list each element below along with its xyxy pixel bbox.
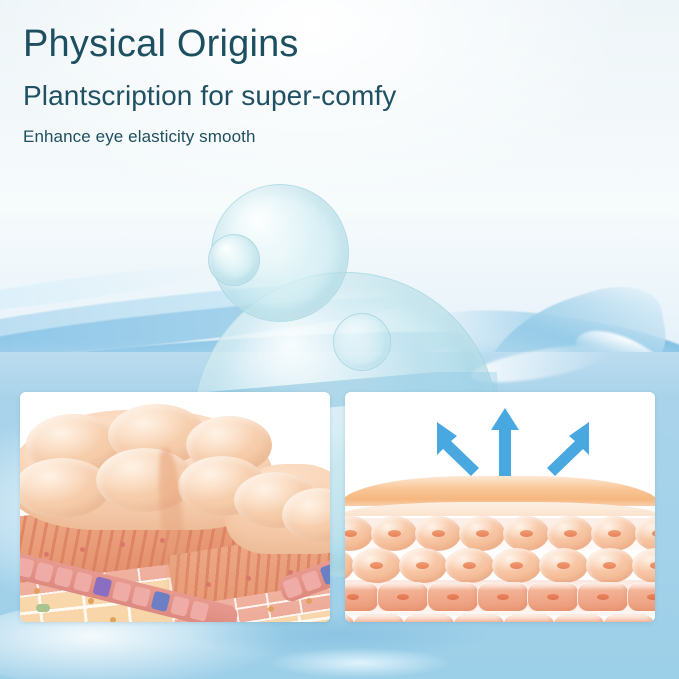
- pill-cell: [427, 582, 479, 612]
- page-title: Physical Origins: [23, 22, 623, 67]
- oval-cell: [591, 516, 637, 551]
- arrow-up-left-icon: [427, 414, 489, 480]
- pill-cell-row-2: [345, 614, 655, 622]
- oval-cell: [586, 548, 635, 583]
- pill-cell: [353, 614, 405, 622]
- layer-dot: [206, 582, 211, 587]
- basal-cell: [151, 591, 171, 612]
- arrow-up-right-icon: [537, 414, 599, 480]
- pill-cell: [477, 582, 529, 612]
- oval-cell: [445, 548, 494, 583]
- oval-cell: [547, 516, 593, 551]
- pill-cell: [603, 614, 655, 622]
- basal-cell: [189, 600, 209, 621]
- oval-cell-row-2: [345, 548, 655, 583]
- layer-dot: [160, 538, 165, 543]
- product-banner: Physical Origins Plantscription for supe…: [0, 0, 679, 679]
- layer-dot: [268, 606, 274, 612]
- illustration-cards: [20, 392, 660, 622]
- pill-cell-row-1: [345, 582, 655, 612]
- basal-cell: [320, 563, 330, 585]
- arrow-up-icon: [487, 406, 523, 480]
- basal-cell: [282, 577, 303, 599]
- basal-cell: [73, 571, 93, 592]
- pill-cell: [377, 582, 429, 612]
- pill-cell: [453, 614, 505, 622]
- inner-bubble-icon: [333, 313, 391, 371]
- oval-cell: [352, 548, 401, 583]
- tiny-bubble-icon: [208, 234, 260, 286]
- pill-cell: [577, 582, 629, 612]
- skin-surface-pale-band: [345, 502, 655, 516]
- page-subtitle: Plantscription for super-comfy: [23, 79, 623, 113]
- pill-cell: [627, 582, 655, 612]
- capillary-marker: [36, 604, 50, 612]
- oval-cell: [459, 516, 505, 551]
- oval-cell: [371, 516, 417, 551]
- oval-cell: [632, 548, 655, 583]
- header-text-block: Physical Origins Plantscription for supe…: [23, 22, 623, 147]
- oval-cell: [345, 516, 373, 551]
- pill-cell: [553, 614, 605, 622]
- layer-dot: [246, 576, 251, 581]
- layer-dot: [110, 617, 116, 622]
- page-tagline: Enhance eye elasticity smooth: [23, 127, 623, 147]
- oval-cell: [399, 548, 448, 583]
- oval-cell: [503, 516, 549, 551]
- basal-cell: [92, 576, 112, 597]
- oval-cell-row-1: [345, 516, 655, 551]
- oval-cell: [539, 548, 588, 583]
- pill-cell: [403, 614, 455, 622]
- basal-cell: [20, 557, 35, 578]
- basal-cell: [170, 596, 190, 617]
- basal-cell: [34, 562, 54, 583]
- oval-cell: [492, 548, 541, 583]
- card-wrinkled-skin: [20, 392, 330, 622]
- basal-cell: [301, 570, 322, 592]
- smooth-skin-diagram: [345, 392, 655, 622]
- wrinkled-skin-diagram: [20, 392, 330, 622]
- pill-cell: [345, 582, 379, 612]
- card-smooth-skin: [345, 392, 655, 622]
- bubble-reflection-highlight: [270, 648, 450, 678]
- pill-cell: [503, 614, 555, 622]
- layer-dot: [120, 542, 125, 547]
- basal-cell: [131, 586, 151, 607]
- layer-dot: [88, 598, 94, 604]
- oval-cell: [415, 516, 461, 551]
- layer-dot: [34, 588, 40, 594]
- pill-cell: [527, 582, 579, 612]
- basal-cell: [112, 581, 132, 602]
- oval-cell: [635, 516, 655, 551]
- layer-dot: [44, 552, 49, 557]
- layer-dot: [306, 598, 312, 604]
- basal-cell: [54, 567, 74, 588]
- layer-dot: [80, 547, 85, 552]
